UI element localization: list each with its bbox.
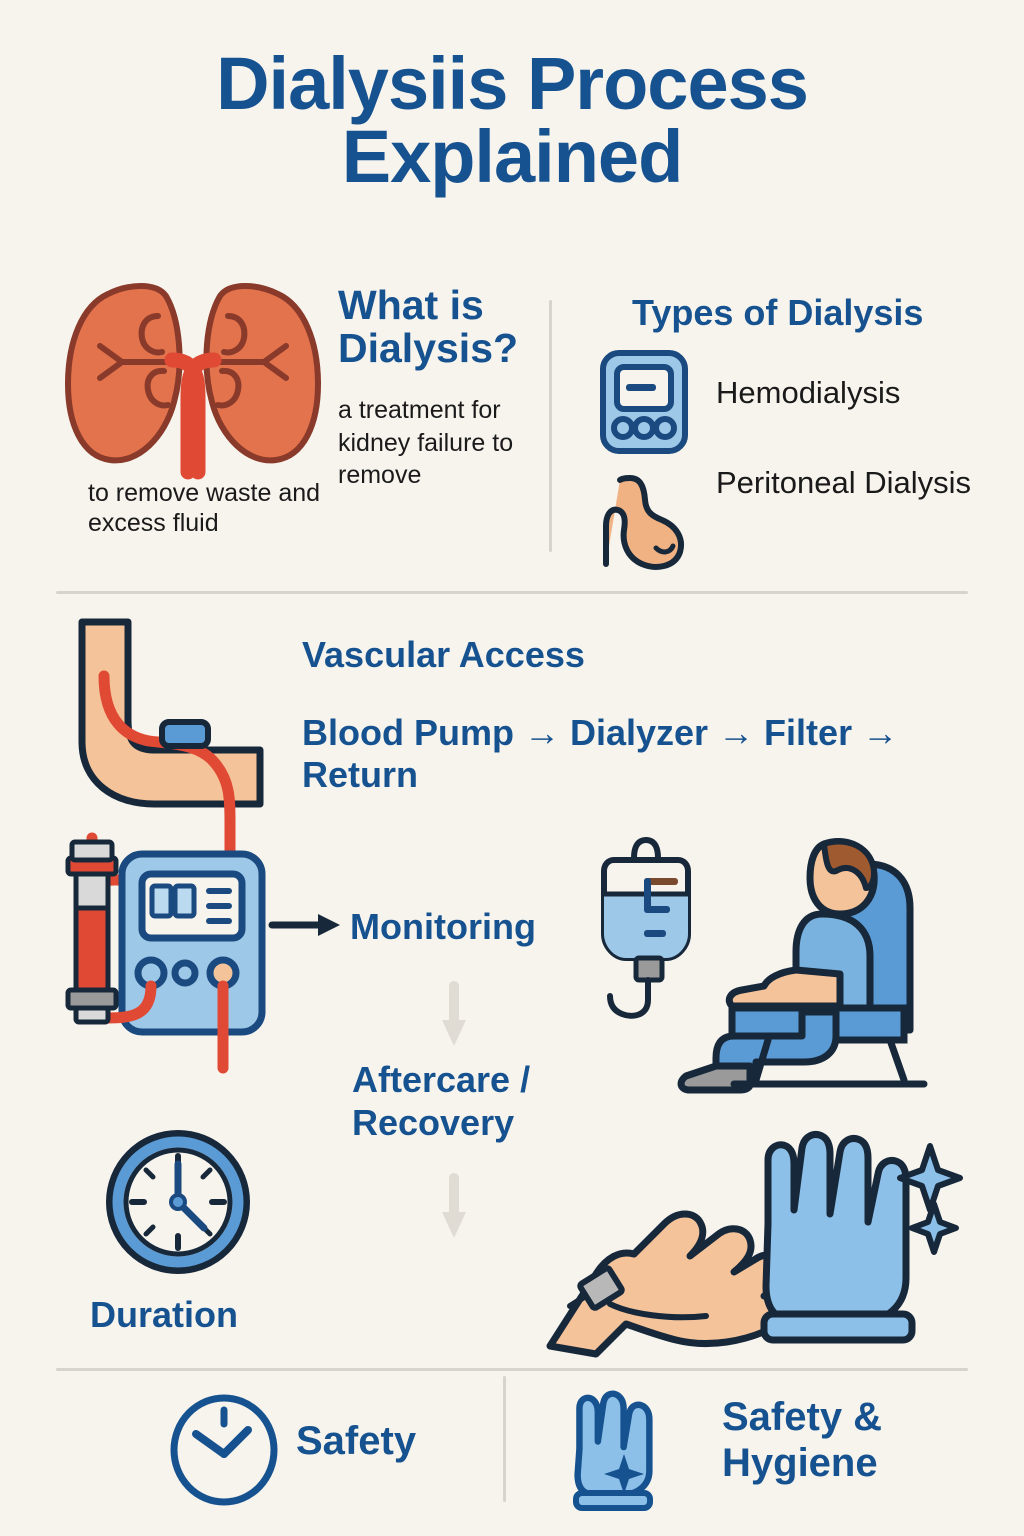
- glove-sparkle-icon: [562, 1390, 674, 1512]
- dialysis-machine-large-icon: [62, 832, 312, 1072]
- process-flow-label: Blood Pump → Dialyzer → Filter → Return: [302, 712, 942, 797]
- vascular-access-label: Vascular Access: [302, 636, 822, 674]
- what-is-dialysis-heading: What is Dialysis?: [338, 284, 533, 371]
- duration-label: Duration: [90, 1296, 340, 1334]
- page-title-line1: Dialysiis Process: [216, 42, 808, 125]
- page-title-line2: Explained: [0, 121, 1024, 194]
- type-label-hemodialysis: Hemodialysis: [716, 374, 996, 411]
- dialysis-machine-icon: [598, 348, 690, 456]
- footer-label-safety: Safety: [296, 1420, 516, 1462]
- patient-in-recliner-icon: [672, 822, 972, 1092]
- page-title: Dialysiis Process Explained: [0, 48, 1024, 193]
- kidney-caption: to remove waste and excess fluid: [88, 478, 338, 538]
- hands-care-icon: [540, 1128, 960, 1358]
- type-label-peritoneal: Peritoneal Dialysis: [716, 464, 976, 502]
- horizontal-divider-bottom: [56, 1368, 968, 1371]
- section-process: Vascular Access Blood Pump → Dialyzer → …: [0, 600, 1024, 1360]
- clock-outline-icon: [168, 1394, 280, 1506]
- what-is-dialysis-description: a treatment for kidney failure to remove: [338, 394, 533, 492]
- kidneys-icon: [62, 274, 324, 484]
- section-intro: to remove waste and excess fluid What is…: [0, 262, 1024, 582]
- vertical-divider-top: [549, 300, 552, 552]
- stomach-icon: [600, 474, 692, 570]
- infographic-page: Dialysiis Process Explained to rem: [0, 0, 1024, 1536]
- wall-clock-icon: [104, 1128, 252, 1276]
- arrow-to-monitoring-icon: [272, 912, 342, 938]
- arrow-down-to-safety-icon: [440, 1178, 468, 1240]
- section-footer: Safety Safety & Hygiene: [0, 1372, 1024, 1536]
- types-of-dialysis-heading: Types of Dialysis: [632, 294, 972, 332]
- footer-label-hygiene: Safety & Hygiene: [722, 1394, 982, 1487]
- horizontal-divider-top: [56, 591, 968, 594]
- arrow-down-to-aftercare-icon: [440, 986, 468, 1048]
